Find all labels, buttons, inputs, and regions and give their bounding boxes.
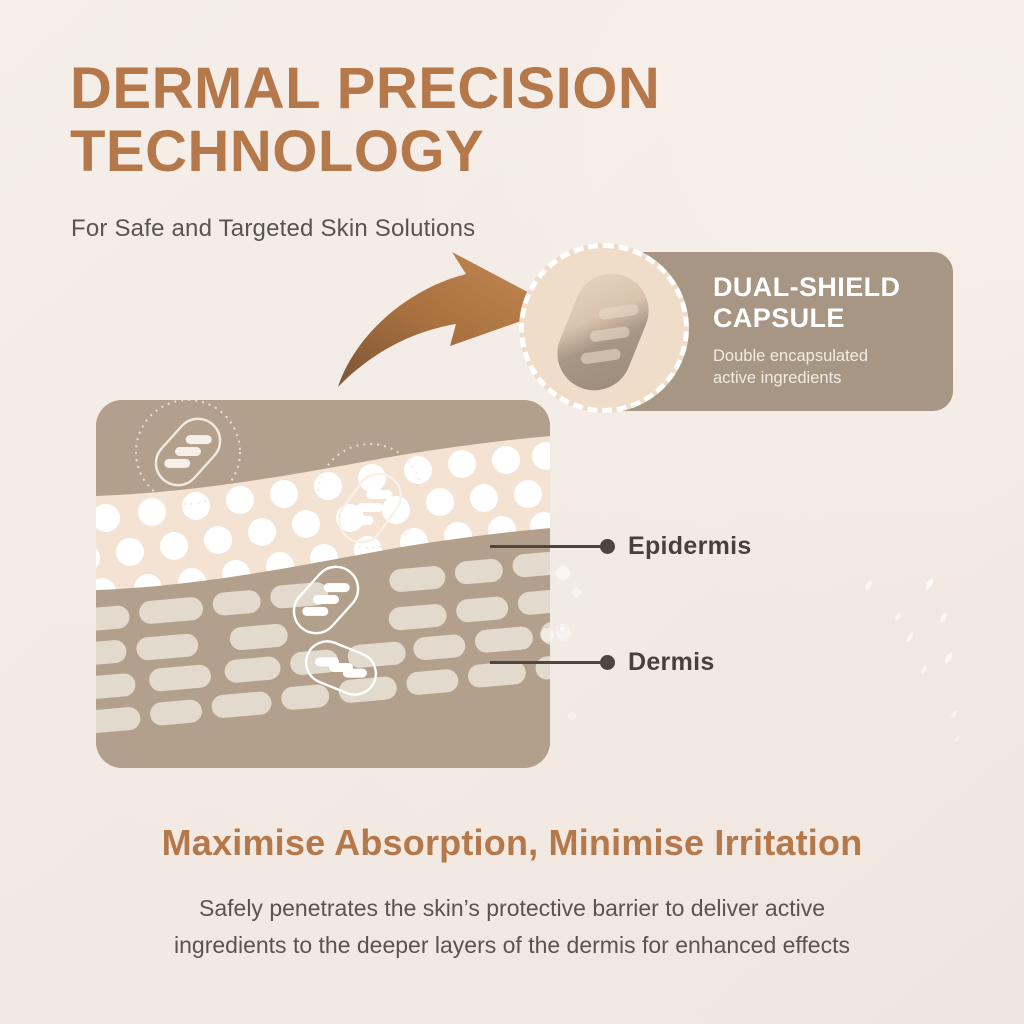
label-dermis: Dermis: [628, 648, 715, 677]
epidermis-leader-dot: [600, 539, 615, 554]
capsule-icon: [546, 263, 660, 402]
callout-title-line-1: DUAL-SHIELD: [713, 272, 953, 303]
footer-body-line-1: Safely penetrates the skin’s protective …: [126, 890, 898, 927]
decor-bubble: [556, 566, 570, 580]
dermis-leader-line: [490, 661, 607, 664]
dermis-leader-dot: [600, 655, 615, 670]
capsule-stripe: [589, 326, 630, 342]
capsule-badge: [519, 243, 689, 413]
epidermis-leader-line: [490, 545, 607, 548]
decor-speck: [906, 632, 914, 643]
decor-speck: [894, 612, 902, 622]
callout-description-line-1: Double encapsulated: [713, 345, 943, 367]
decor-bubble: [540, 628, 554, 642]
footer-body: Safely penetrates the skin’s protective …: [126, 890, 898, 965]
callout-description-line-2: active ingredients: [713, 367, 943, 389]
capsule-stripe: [580, 348, 621, 364]
footer-headline: Maximise Absorption, Minimise Irritation: [0, 822, 1024, 864]
decor-speck: [939, 611, 949, 623]
label-epidermis: Epidermis: [628, 532, 752, 561]
skin-cross-section-diagram: [96, 400, 550, 768]
decor-speck: [920, 665, 928, 675]
decor-speck: [864, 579, 874, 591]
footer-body-line-2: ingredients to the deeper layers of the …: [126, 927, 898, 964]
infographic-canvas: DERMAL PRECISION TECHNOLOGY For Safe and…: [0, 0, 1024, 1024]
callout-description: Double encapsulated active ingredients: [713, 345, 943, 390]
capsule-stripe: [598, 304, 639, 320]
decor-speck: [924, 578, 934, 591]
decor-speck: [950, 710, 958, 720]
page-subtitle: For Safe and Targeted Skin Solutions: [71, 215, 475, 243]
decor-speck: [943, 652, 953, 665]
decor-bubble: [568, 712, 576, 720]
callout-title: DUAL-SHIELD CAPSULE: [713, 272, 953, 334]
callout-title-line-2: CAPSULE: [713, 303, 953, 334]
decor-bubble: [572, 588, 581, 597]
decor-bubble: [560, 626, 565, 631]
decor-speck: [954, 735, 960, 743]
page-title-line-1: DERMAL PRECISION: [70, 58, 770, 121]
page-title: DERMAL PRECISION TECHNOLOGY: [70, 58, 770, 183]
page-title-line-2: TECHNOLOGY: [70, 121, 770, 184]
